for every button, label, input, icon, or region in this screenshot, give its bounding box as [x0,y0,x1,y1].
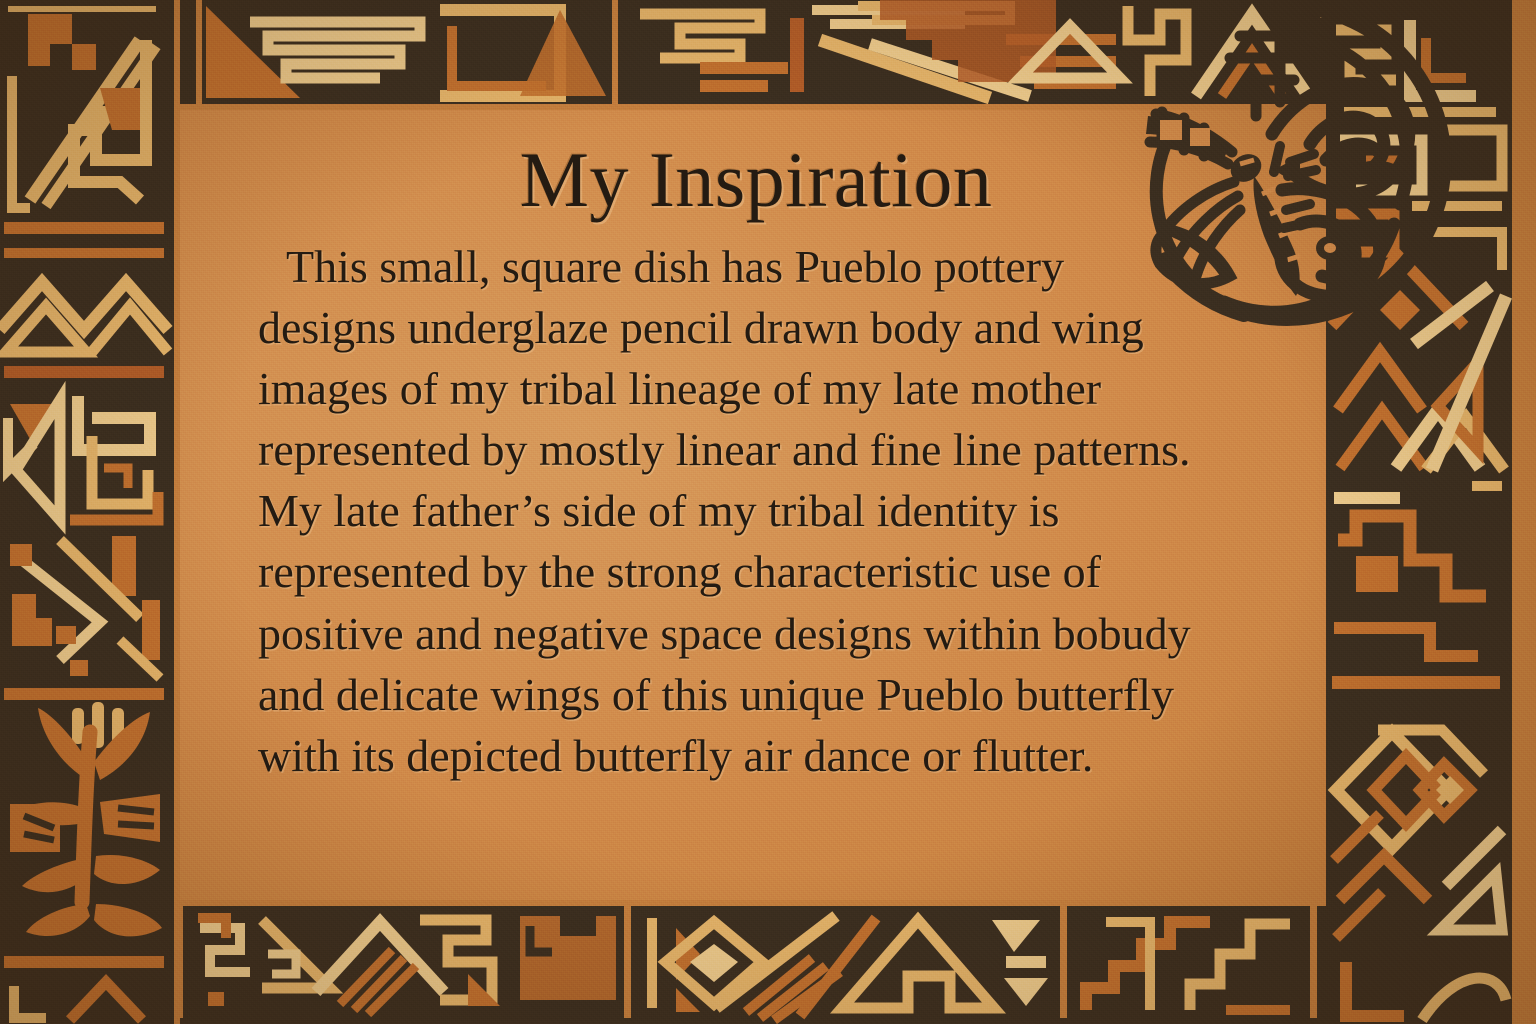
body-line: images of my tribal lineage of my late m… [258,358,1302,419]
body-line: My late father’s side of my tribal ident… [258,480,1302,541]
body-line: represented by mostly linear and fine li… [258,419,1302,480]
southwest-diamond-chevron-border-icon [0,892,1536,1024]
body-copy: This small, square dish has Pueblo potte… [196,236,1316,787]
body-line: represented by the strong characteristic… [258,541,1302,602]
body-line: with its depicted butterfly air dance or… [258,725,1302,786]
border-left [0,0,180,1024]
plaque-artwork: My Inspiration This small, square dish h… [0,0,1536,1024]
body-line: and delicate wings of this unique Pueblo… [258,664,1302,725]
body-line: This small, square dish has Pueblo potte… [258,236,1302,297]
border-bottom [0,892,1536,1024]
page-title: My Inspiration [196,132,1316,220]
plaque-text-block: My Inspiration This small, square dish h… [196,132,1316,872]
southwest-plant-and-maze-border-icon [0,0,180,1024]
body-line: positive and negative space designs with… [258,603,1302,664]
body-line: designs underglaze pencil drawn body and… [258,297,1302,358]
